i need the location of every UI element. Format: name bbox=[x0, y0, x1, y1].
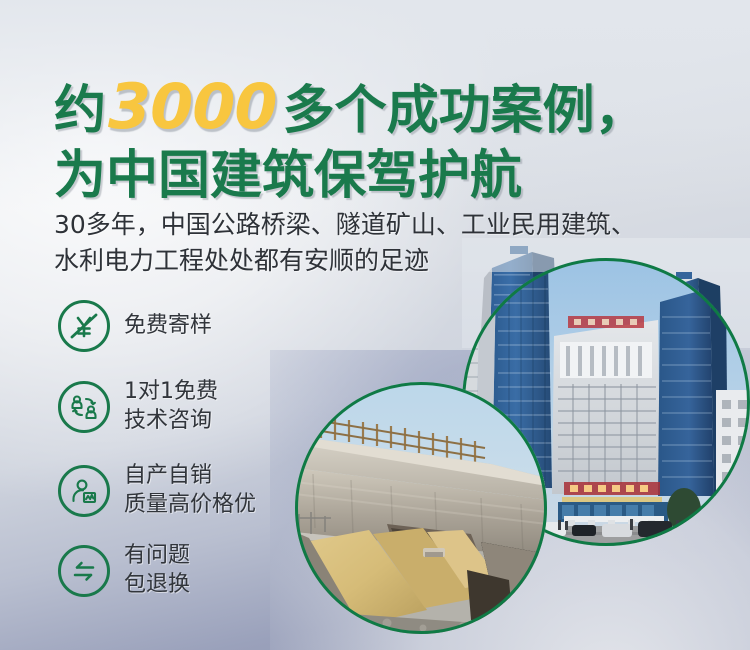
return-exchange-icon bbox=[58, 545, 110, 597]
one-on-one-consult-icon bbox=[58, 381, 110, 433]
feature-item-return-exchange: 有问题 包退换 bbox=[58, 542, 190, 599]
feature-line: 包退换 bbox=[124, 571, 190, 600]
headline-prefix: 约 bbox=[54, 81, 106, 141]
headline-number: 3000 bbox=[106, 70, 283, 143]
subtitle-line-1: 30多年，中国公路桥梁、隧道矿山、工业民用建筑、 bbox=[54, 207, 636, 243]
feature-line: 自产自销 bbox=[124, 462, 256, 491]
bridge-photo bbox=[295, 382, 547, 634]
feature-line: 技术咨询 bbox=[124, 407, 218, 436]
self-production-icon bbox=[58, 465, 110, 517]
free-sample-icon bbox=[58, 300, 110, 352]
subtitle-line-2: 水利电力工程处处都有安顺的足迹 bbox=[54, 243, 636, 279]
feature-item-consultation: 1对1免费 技术咨询 bbox=[58, 378, 218, 435]
feature-label: 自产自销 质量高价格优 bbox=[124, 462, 256, 519]
feature-line: 有问题 bbox=[124, 542, 190, 571]
feature-label: 免费寄样 bbox=[124, 312, 212, 341]
subtitle: 30多年，中国公路桥梁、隧道矿山、工业民用建筑、 水利电力工程处处都有安顺的足迹 bbox=[54, 207, 636, 278]
headline-suffix: 多个成功案例， bbox=[283, 81, 647, 141]
page-title: 约3000多个成功案例， 为中国建筑保驾护航 bbox=[54, 76, 647, 202]
feature-item-self-production: 自产自销 质量高价格优 bbox=[58, 462, 256, 519]
feature-line: 免费寄样 bbox=[124, 312, 212, 341]
headline-line-1: 约3000多个成功案例， bbox=[54, 76, 647, 138]
feature-label: 1对1免费 技术咨询 bbox=[124, 378, 218, 435]
feature-item-free-sample: 免费寄样 bbox=[58, 300, 212, 352]
promotional-banner: 约3000多个成功案例， 为中国建筑保驾护航 30多年，中国公路桥梁、隧道矿山、… bbox=[0, 0, 750, 650]
headline-line-2: 为中国建筑保驾护航 bbox=[54, 150, 647, 202]
feature-line: 1对1免费 bbox=[124, 378, 218, 407]
feature-line: 质量高价格优 bbox=[124, 491, 256, 520]
feature-label: 有问题 包退换 bbox=[124, 542, 190, 599]
